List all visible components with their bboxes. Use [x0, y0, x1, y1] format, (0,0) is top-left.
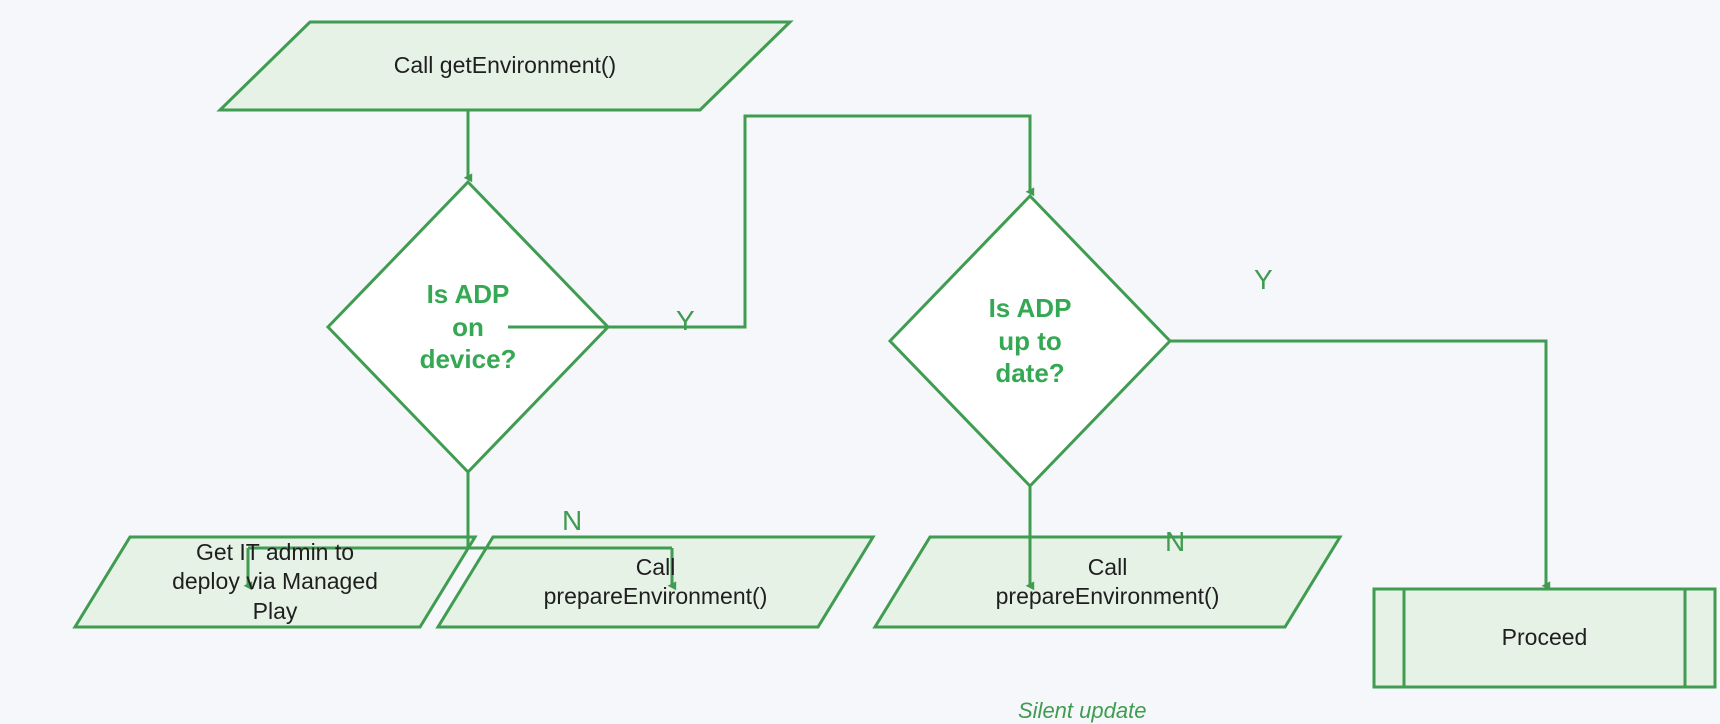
annotation-silent-update: Silent update	[1018, 700, 1146, 722]
node-decision-up-to-date-shape[interactable]	[890, 196, 1170, 486]
flowchart-svg	[0, 0, 1720, 724]
node-proceed-shape[interactable]	[1374, 589, 1715, 687]
node-prepare-env-left-shape[interactable]	[438, 537, 873, 627]
edge-label-up-to-date-yes: Y	[1254, 266, 1273, 294]
node-prepare-env-right-shape[interactable]	[875, 537, 1340, 627]
node-start-shape[interactable]	[220, 22, 790, 110]
node-deploy-managed-play-shape[interactable]	[75, 537, 475, 627]
edge-label-up-to-date-no: N	[1165, 528, 1185, 556]
edge-label-on-device-yes: Y	[676, 307, 695, 335]
edge-label-on-device-no: N	[562, 507, 582, 535]
flowchart-canvas: Call getEnvironment() Is ADP on device? …	[0, 0, 1720, 724]
